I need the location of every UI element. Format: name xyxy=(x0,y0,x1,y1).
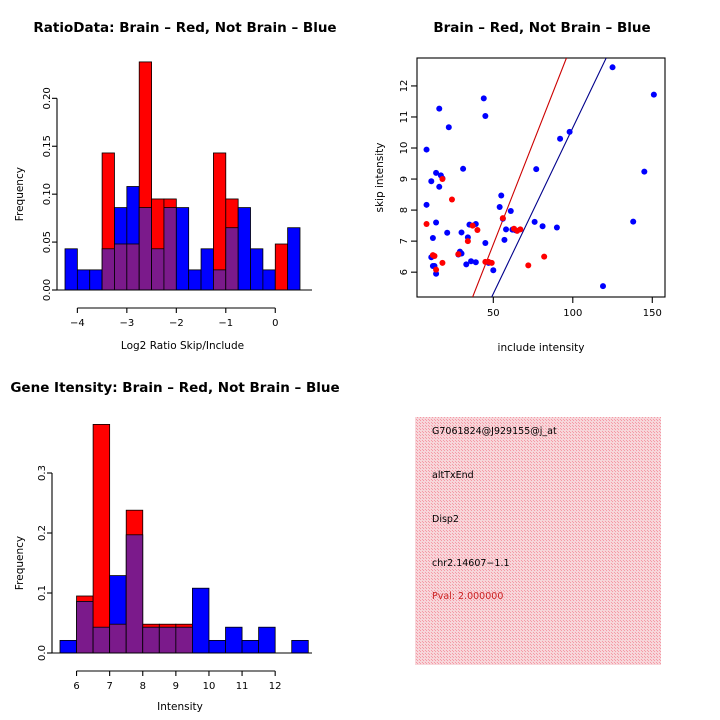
y-axis-tick-label: 0.00 xyxy=(42,279,53,301)
scatter-point xyxy=(497,204,503,210)
info-box-background xyxy=(415,417,661,665)
histogram-bar-overlap xyxy=(213,270,225,290)
histogram-bar xyxy=(90,270,102,290)
scatter-point xyxy=(540,223,546,229)
scatter-point xyxy=(424,221,430,227)
scatter-point xyxy=(482,240,488,246)
histogram-bar-overlap xyxy=(164,208,176,290)
x-axis-tick-label: 100 xyxy=(563,308,582,319)
x-axis-label: Intensity xyxy=(157,701,203,713)
scatter-point xyxy=(424,147,430,153)
x-axis-label: include intensity xyxy=(498,342,585,354)
scatter-point xyxy=(517,226,523,232)
y-axis-tick-label: 6 xyxy=(399,269,410,275)
panel-intensity-scatter: Brain – Red, Not Brain – Blue6789101112s… xyxy=(360,0,720,360)
histogram-bar-overlap xyxy=(159,627,176,653)
scatter-point xyxy=(428,178,434,184)
histogram-bar xyxy=(93,424,110,653)
intensity-scatter-svg: Brain – Red, Not Brain – Blue6789101112s… xyxy=(360,0,720,360)
scatter-point xyxy=(641,169,647,175)
x-axis-tick-label: 11 xyxy=(236,681,249,692)
scatter-point xyxy=(424,202,430,208)
gene-info-svg: G7061824@J929155@j_at altTxEnd Disp2 chr… xyxy=(360,360,720,720)
histogram-bar-overlap xyxy=(127,244,139,290)
scatter-point xyxy=(489,260,495,266)
scatter-point xyxy=(433,220,439,226)
panel-gene-histogram: Gene Itensity: Brain – Red, Not Brain – … xyxy=(0,360,360,720)
histogram-bar-overlap xyxy=(110,624,127,653)
ratio-histogram-svg: RatioData: Brain – Red, Not Brain – Blue… xyxy=(0,0,360,360)
histogram-bar-overlap xyxy=(152,249,164,290)
y-axis-tick-label: 9 xyxy=(399,176,410,182)
scatter-point xyxy=(500,215,506,221)
histogram-bar xyxy=(209,640,226,653)
y-axis-label: Frequency xyxy=(14,536,26,590)
panel-title: Brain – Red, Not Brain – Blue xyxy=(433,20,650,36)
scatter-point xyxy=(567,129,573,135)
x-axis-tick-label: 50 xyxy=(487,308,500,319)
scatter-point xyxy=(433,267,439,273)
histogram-bar xyxy=(189,270,201,290)
histogram-bar xyxy=(213,153,225,290)
histogram-bar xyxy=(263,270,275,290)
y-axis-label: skip intensity xyxy=(374,143,386,213)
histogram-bar xyxy=(176,208,188,290)
x-axis-tick-label: 12 xyxy=(269,681,282,692)
scatter-point xyxy=(511,226,517,232)
y-axis-tick-label: 0.10 xyxy=(42,183,53,205)
y-axis-tick-label: 0.0 xyxy=(37,645,48,661)
scatter-point xyxy=(498,193,504,199)
scatter-point xyxy=(532,219,538,225)
scatter-content xyxy=(424,58,657,297)
info-line-probeset: G7061824@J929155@j_at xyxy=(432,426,557,437)
scatter-point xyxy=(465,238,471,244)
histogram-bar-overlap xyxy=(93,627,110,653)
histogram-bar-overlap xyxy=(126,535,143,653)
histogram-bar xyxy=(292,640,309,653)
x-axis xyxy=(77,671,276,676)
panel-title: Gene Itensity: Brain – Red, Not Brain – … xyxy=(10,380,339,396)
x-axis-tick-label: 6 xyxy=(73,681,79,692)
panel-ratio-histogram: RatioData: Brain – Red, Not Brain – Blue… xyxy=(0,0,360,360)
scatter-point xyxy=(490,267,496,273)
scatter-point xyxy=(436,184,442,190)
histogram-bar xyxy=(242,640,259,653)
histogram-bar-overlap xyxy=(77,601,94,653)
histogram-bar xyxy=(65,249,77,290)
histogram-bars xyxy=(60,424,308,653)
x-axis xyxy=(77,308,275,313)
scatter-point xyxy=(446,124,452,130)
x-axis-tick-label: 0 xyxy=(272,318,278,329)
y-axis-tick-label: 0.20 xyxy=(42,87,53,109)
scatter-point xyxy=(449,197,455,203)
x-axis-tick-label: −2 xyxy=(169,318,184,329)
y-axis-tick-label: 0.3 xyxy=(37,465,48,481)
histogram-bars xyxy=(65,62,300,290)
scatter-point xyxy=(508,208,514,214)
histogram-bar-overlap xyxy=(102,249,114,290)
scatter-point xyxy=(541,254,547,260)
histogram-bar-overlap xyxy=(176,627,193,653)
info-line-pval: Pval: 2.000000 xyxy=(432,591,503,602)
y-axis-tick-label: 0.1 xyxy=(37,585,48,601)
scatter-point xyxy=(482,113,488,119)
histogram-bar xyxy=(60,640,77,653)
scatter-point xyxy=(436,106,442,112)
histogram-bar-overlap xyxy=(139,208,151,290)
regression-line-blue-fit xyxy=(492,58,606,297)
plot-box xyxy=(417,58,665,297)
y-axis-tick-label: 7 xyxy=(399,238,410,244)
y-axis-tick-label: 11 xyxy=(399,111,410,124)
scatter-point xyxy=(557,136,563,142)
x-axis-tick-label: −1 xyxy=(218,318,233,329)
scatter-point xyxy=(481,95,487,101)
scatter-point xyxy=(503,226,509,232)
histogram-bar xyxy=(288,228,300,290)
scatter-point xyxy=(470,223,476,229)
panel-title: RatioData: Brain – Red, Not Brain – Blue xyxy=(33,20,336,36)
panel-gene-info: G7061824@J929155@j_at altTxEnd Disp2 chr… xyxy=(360,360,720,720)
scatter-point xyxy=(651,92,657,98)
histogram-bar xyxy=(192,588,209,653)
histogram-bar xyxy=(238,208,250,290)
scatter-point xyxy=(501,237,507,243)
histogram-bar-overlap xyxy=(114,244,126,290)
scatter-point xyxy=(455,251,461,257)
histogram-bar-overlap xyxy=(143,627,160,653)
scatter-point xyxy=(439,176,445,182)
info-line-gene-symbol: Disp2 xyxy=(432,514,459,525)
x-axis-tick-label: 8 xyxy=(140,681,146,692)
scatter-point xyxy=(482,259,488,265)
y-axis-tick-label: 8 xyxy=(399,207,410,213)
scatter-point xyxy=(610,64,616,70)
histogram-bar xyxy=(275,244,287,290)
y-axis-tick-label: 0.05 xyxy=(42,231,53,253)
y-axis-label: Frequency xyxy=(14,167,26,221)
gene-histogram-svg: Gene Itensity: Brain – Red, Not Brain – … xyxy=(0,360,360,720)
y-axis-tick-label: 0.15 xyxy=(42,135,53,157)
y-axis-tick-label: 10 xyxy=(399,142,410,155)
scatter-point xyxy=(525,262,531,268)
scatter-point xyxy=(460,166,466,172)
histogram-bar xyxy=(226,627,243,653)
x-axis-tick-label: −4 xyxy=(70,318,85,329)
histogram-bar-overlap xyxy=(226,228,238,290)
histogram-bar xyxy=(259,627,276,653)
x-axis-tick-label: −3 xyxy=(119,318,134,329)
scatter-point xyxy=(430,252,436,258)
x-axis-label: Log2 Ratio Skip/Include xyxy=(121,340,244,352)
scatter-point xyxy=(630,219,636,225)
histogram-bar xyxy=(251,249,263,290)
scatter-point xyxy=(430,235,436,241)
histogram-bar xyxy=(77,270,89,290)
scatter-point xyxy=(554,224,560,230)
x-axis-tick-label: 9 xyxy=(173,681,179,692)
scatter-point xyxy=(600,283,606,289)
y-axis xyxy=(47,473,52,653)
y-axis-tick-label: 0.2 xyxy=(37,525,48,541)
x-axis-tick-label: 150 xyxy=(643,308,662,319)
histogram-bar xyxy=(201,249,213,290)
x-axis-tick-label: 7 xyxy=(106,681,112,692)
scatter-point xyxy=(444,230,450,236)
scatter-point xyxy=(473,259,479,265)
scatter-point xyxy=(439,260,445,266)
scatter-point xyxy=(459,229,465,235)
info-line-locus: chr2.14607−1.1 xyxy=(432,558,510,569)
y-axis-tick-label: 12 xyxy=(399,80,410,93)
scatter-point xyxy=(533,166,539,172)
info-line-event-type: altTxEnd xyxy=(432,470,474,481)
scatter-point xyxy=(474,227,480,233)
x-axis-tick-label: 10 xyxy=(203,681,216,692)
